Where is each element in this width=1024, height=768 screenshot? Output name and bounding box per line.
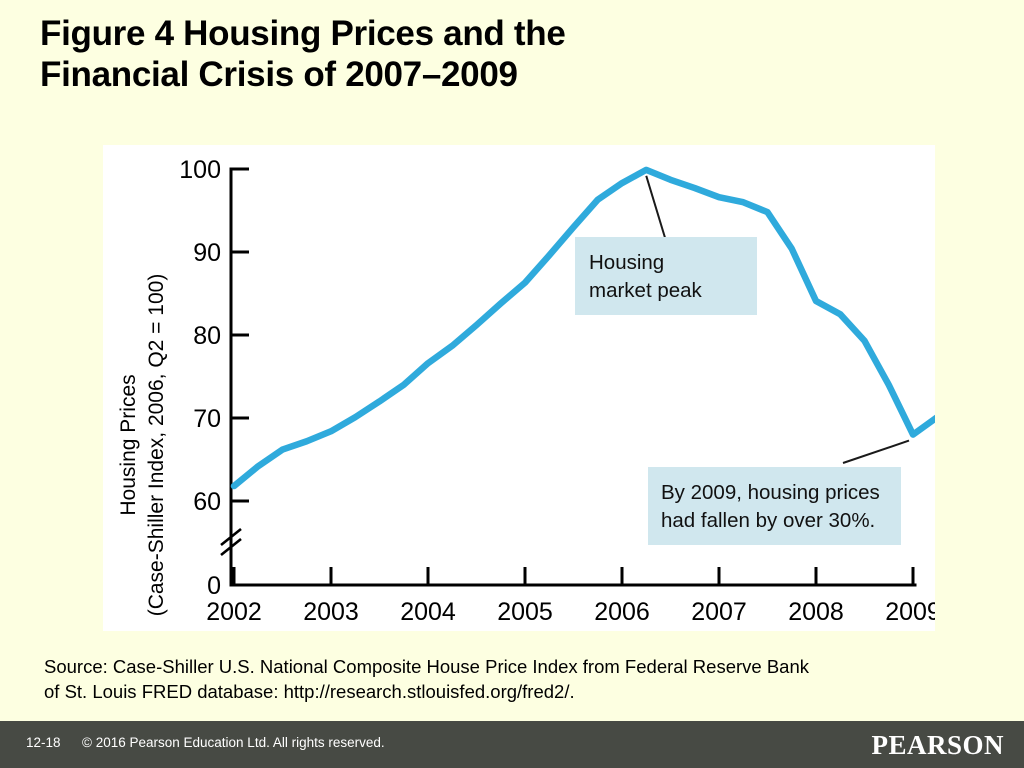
x-tick-label-2007: 2007: [691, 598, 747, 626]
y-tick-label-60: 60: [193, 488, 221, 516]
housing-price-line-chart: Housing Prices (Case-Shiller Index, 2006…: [103, 145, 935, 631]
x-tick-label-2006: 2006: [594, 598, 650, 626]
data-series-line: [234, 170, 935, 486]
copyright-text: © 2016 Pearson Education Ltd. All rights…: [82, 735, 385, 750]
slide-number: 12-18: [26, 735, 61, 750]
annotation-decline-line-1: By 2009, housing prices: [661, 481, 880, 504]
y-tick-label-70: 70: [193, 405, 221, 433]
x-tick-label-2003: 2003: [303, 598, 359, 626]
annotation-decline-line-2: had fallen by over 30%.: [661, 509, 875, 532]
y-axis-title-line-2: (Case-Shiller Index, 2006, Q2 = 100): [145, 274, 168, 617]
x-tick-label-2004: 2004: [400, 598, 456, 626]
peak-leader-line: [646, 176, 666, 241]
footer-bar: 12-18 © 2016 Pearson Education Ltd. All …: [0, 721, 1024, 768]
source-note-line-2: of St. Louis FRED database: http://resea…: [44, 680, 994, 705]
y-tick-label-100: 100: [179, 156, 221, 184]
x-tick-label-2009: 2009: [885, 598, 935, 626]
y-tick-label-0: 0: [207, 572, 221, 600]
source-note-line-1: Source: Case-Shiller U.S. National Compo…: [44, 655, 994, 680]
page-title-line-1: Figure 4 Housing Prices and the: [40, 14, 940, 55]
annotation-peak-line-1: Housing: [589, 251, 664, 274]
page-title-line-2: Financial Crisis of 2007–2009: [40, 55, 940, 96]
annotation-peak-line-2: market peak: [589, 279, 703, 302]
annotation-decline-note: [648, 467, 901, 545]
chart-panel: Housing Prices (Case-Shiller Index, 2006…: [103, 145, 935, 631]
pearson-logo: PEARSON: [871, 730, 1004, 761]
decline-leader-line: [843, 441, 909, 463]
y-tick-label-80: 80: [193, 322, 221, 350]
annotation-housing-market-peak: [575, 237, 757, 315]
page-title: Figure 4 Housing Prices and the Financia…: [40, 14, 940, 96]
y-axis-title-line-1: Housing Prices: [117, 374, 140, 515]
x-tick-label-2005: 2005: [497, 598, 553, 626]
y-tick-label-90: 90: [193, 239, 221, 267]
source-note: Source: Case-Shiller U.S. National Compo…: [44, 655, 994, 705]
x-tick-label-2008: 2008: [788, 598, 844, 626]
x-tick-label-2002: 2002: [206, 598, 262, 626]
